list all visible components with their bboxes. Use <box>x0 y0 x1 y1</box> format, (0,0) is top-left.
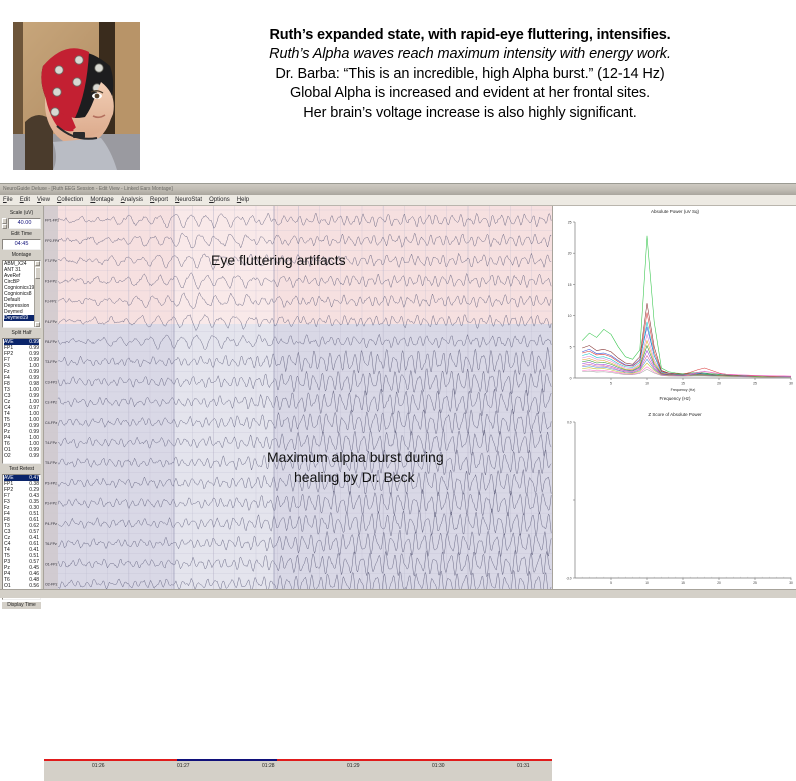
menu-item-analysis[interactable]: Analysis <box>121 195 143 206</box>
scale-spinner[interactable]: 40.00 <box>2 218 41 229</box>
edit-time-label: Edit Time <box>2 231 41 238</box>
montage-scroll-thumb[interactable] <box>35 267 41 279</box>
svg-text:15: 15 <box>681 382 685 386</box>
scale-spin-buttons[interactable] <box>2 218 7 229</box>
edit-time-value[interactable]: 04:45 <box>2 239 41 250</box>
eeg-channel-label: C4-FPz <box>45 421 57 425</box>
split-half-site: O2 <box>4 453 13 459</box>
svg-text:5: 5 <box>610 581 612 585</box>
header-text-block: Ruth’s expanded state, with rapid-eye fl… <box>150 26 790 123</box>
split-half-label: Split Half <box>2 330 41 337</box>
menu-item-edit[interactable]: Edit <box>20 195 30 206</box>
eeg-trace-viewport[interactable]: FP1-FPzFP2-FPzF7-FPzF3-FPzFz-FPzF4-FPzF8… <box>44 206 552 598</box>
absolute-power-xlabel: Frequency (Hz) <box>553 396 796 401</box>
eeg-channel-label: C3-FPz <box>45 380 57 384</box>
selection-extent-bar[interactable] <box>177 759 277 761</box>
eeg-channel-label: Pz-FPz <box>45 502 57 506</box>
header-line-2: Ruth’s Alpha waves reach maximum intensi… <box>150 45 790 64</box>
spectral-plots-panel: Absolute Power (uV Sq) 05101520255101520… <box>552 206 796 598</box>
annotation-alpha-burst-line2: healing by Dr. Beck <box>294 469 415 485</box>
svg-text:15: 15 <box>681 581 685 585</box>
eeg-channel-label: Cz-FPz <box>45 401 57 405</box>
svg-text:0: 0 <box>570 377 572 381</box>
svg-text:30: 30 <box>789 581 793 585</box>
eeg-channel-label: P3-FPz <box>45 481 57 485</box>
scale-value[interactable]: 40.00 <box>8 218 41 229</box>
menu-item-montage[interactable]: Montage <box>90 195 113 206</box>
window-title-text: NeuroGuide Deluxe - [Ruth EEG Session - … <box>0 184 796 195</box>
svg-text:20: 20 <box>717 382 721 386</box>
time-ruler[interactable]: 01:2601:2701:2801:2901:3001:31 <box>44 759 552 781</box>
menu-item-file[interactable]: File <box>3 195 13 206</box>
eeg-channel-label: F3-FPz <box>45 279 57 283</box>
test-retest-label: Test Retest <box>2 466 41 473</box>
svg-text:Frequency (Hz): Frequency (Hz) <box>671 388 696 392</box>
montage-scrollbar[interactable] <box>34 261 40 327</box>
menu-item-collection[interactable]: Collection <box>57 195 83 206</box>
menu-bar: FileEditViewCollectionMontageAnalysisRep… <box>0 195 796 206</box>
svg-text:20: 20 <box>568 252 572 256</box>
zscore-power-chart: 0.0-3.051015202530 <box>553 402 796 598</box>
header-line-4: Global Alpha is increased and evident at… <box>150 84 790 103</box>
split-half-row[interactable]: O20.99 <box>4 453 39 459</box>
svg-text:10: 10 <box>645 581 649 585</box>
eeg-channel-label: T5-FPz <box>45 461 57 465</box>
eeg-channel-label: FP2-FPz <box>45 239 59 243</box>
menu-item-report[interactable]: Report <box>150 195 168 206</box>
absolute-power-chart: 051015202551015202530Frequency (Hz) <box>553 206 796 402</box>
menu-item-neurostat[interactable]: NeuroStat <box>175 195 202 206</box>
left-control-panel: Scale (uV) 40.00 Edit Time 04:45 Montage… <box>0 206 44 598</box>
svg-text:25: 25 <box>753 581 757 585</box>
neuroguide-application-window: NeuroGuide Deluxe - [Ruth EEG Session - … <box>0 183 796 598</box>
annotation-alpha-burst-line1: Maximum alpha burst during <box>267 449 444 465</box>
header-line-5: Her brain’s voltage increase is also hig… <box>150 104 790 123</box>
time-tick: 01:26 <box>92 763 105 769</box>
montage-label: Montage <box>2 252 41 259</box>
absolute-power-plot: Absolute Power (uV Sq) 05101520255101520… <box>553 206 796 402</box>
time-tick: 01:31 <box>517 763 530 769</box>
display-time-label: Display Time <box>2 602 41 609</box>
menu-item-view[interactable]: View <box>37 195 50 206</box>
scroll-up-icon[interactable] <box>35 261 40 266</box>
eeg-channel-label: F8-FPz <box>45 340 57 344</box>
svg-text:5: 5 <box>570 345 572 349</box>
window-title-bar[interactable]: NeuroGuide Deluxe - [Ruth EEG Session - … <box>0 184 796 195</box>
eeg-channel-label: F7-FPz <box>45 259 57 263</box>
zscore-power-plot: Z Score of Absolute Power 0.0-3.05101520… <box>553 402 796 598</box>
slide-root: Ruth’s expanded state, with rapid-eye fl… <box>0 0 796 597</box>
svg-text:10: 10 <box>568 314 572 318</box>
svg-text:-3.0: -3.0 <box>566 577 572 581</box>
header-line-1: Ruth’s expanded state, with rapid-eye fl… <box>150 26 790 45</box>
annotation-eye-flutter: Eye fluttering artifacts <box>211 252 346 268</box>
edit-time-field[interactable]: 04:45 <box>2 239 41 250</box>
absolute-power-title: Absolute Power (uV Sq) <box>553 209 796 214</box>
svg-text:20: 20 <box>717 581 721 585</box>
eeg-channel-label: O1-FPz <box>45 562 58 566</box>
montage-listbox[interactable]: ABM_X24ANT 31AveRefCircBPCognionics19Cog… <box>2 260 41 328</box>
eeg-channel-label: T3-FPz <box>45 360 57 364</box>
svg-text:25: 25 <box>753 382 757 386</box>
split-half-listbox[interactable]: AVE0.99FP10.99FP20.99F70.99F31.00Fz0.99F… <box>2 338 41 464</box>
time-tick: 01:30 <box>432 763 445 769</box>
eeg-cap-photo-illustration <box>13 22 140 170</box>
eeg-channel-label: P4-FPz <box>45 522 57 526</box>
time-tick: 01:28 <box>262 763 275 769</box>
eeg-channel-label: FP1-FPz <box>45 219 59 223</box>
svg-text:30: 30 <box>789 382 793 386</box>
menu-item-help[interactable]: Help <box>237 195 249 206</box>
slide-header: Ruth’s expanded state, with rapid-eye fl… <box>0 0 796 183</box>
svg-text:0.0: 0.0 <box>567 421 572 425</box>
record-extent-bar <box>44 759 552 761</box>
svg-text:10: 10 <box>645 382 649 386</box>
eeg-channel-label: T4-FPz <box>45 441 57 445</box>
eeg-channel-label: F4-FPz <box>45 320 57 324</box>
scroll-down-icon[interactable] <box>35 322 40 327</box>
svg-text:15: 15 <box>568 283 572 287</box>
eeg-channel-label: T6-FPz <box>45 542 57 546</box>
eeg-channel-label: Fz-FPz <box>45 300 57 304</box>
svg-text:25: 25 <box>568 221 572 225</box>
header-line-3: Dr. Barba: “This is an incredible, high … <box>150 65 790 84</box>
subject-photo <box>13 22 140 170</box>
split-half-value: 0.99 <box>29 453 39 459</box>
menu-item-options[interactable]: Options <box>209 195 230 206</box>
scale-label: Scale (uV) <box>2 210 41 217</box>
zscore-power-title: Z Score of Absolute Power <box>553 412 796 417</box>
scale-down-icon[interactable] <box>2 224 7 230</box>
svg-text:5: 5 <box>610 382 612 386</box>
time-tick: 01:27 <box>177 763 190 769</box>
time-tick: 01:29 <box>347 763 360 769</box>
montage-option[interactable]: Deymed19 <box>4 315 34 321</box>
test-retest-listbox[interactable]: AVE0.47FP10.38FP20.29F70.43F30.35Fz0.30F… <box>2 474 41 600</box>
eeg-channel-label: O2-FPz <box>45 582 58 586</box>
